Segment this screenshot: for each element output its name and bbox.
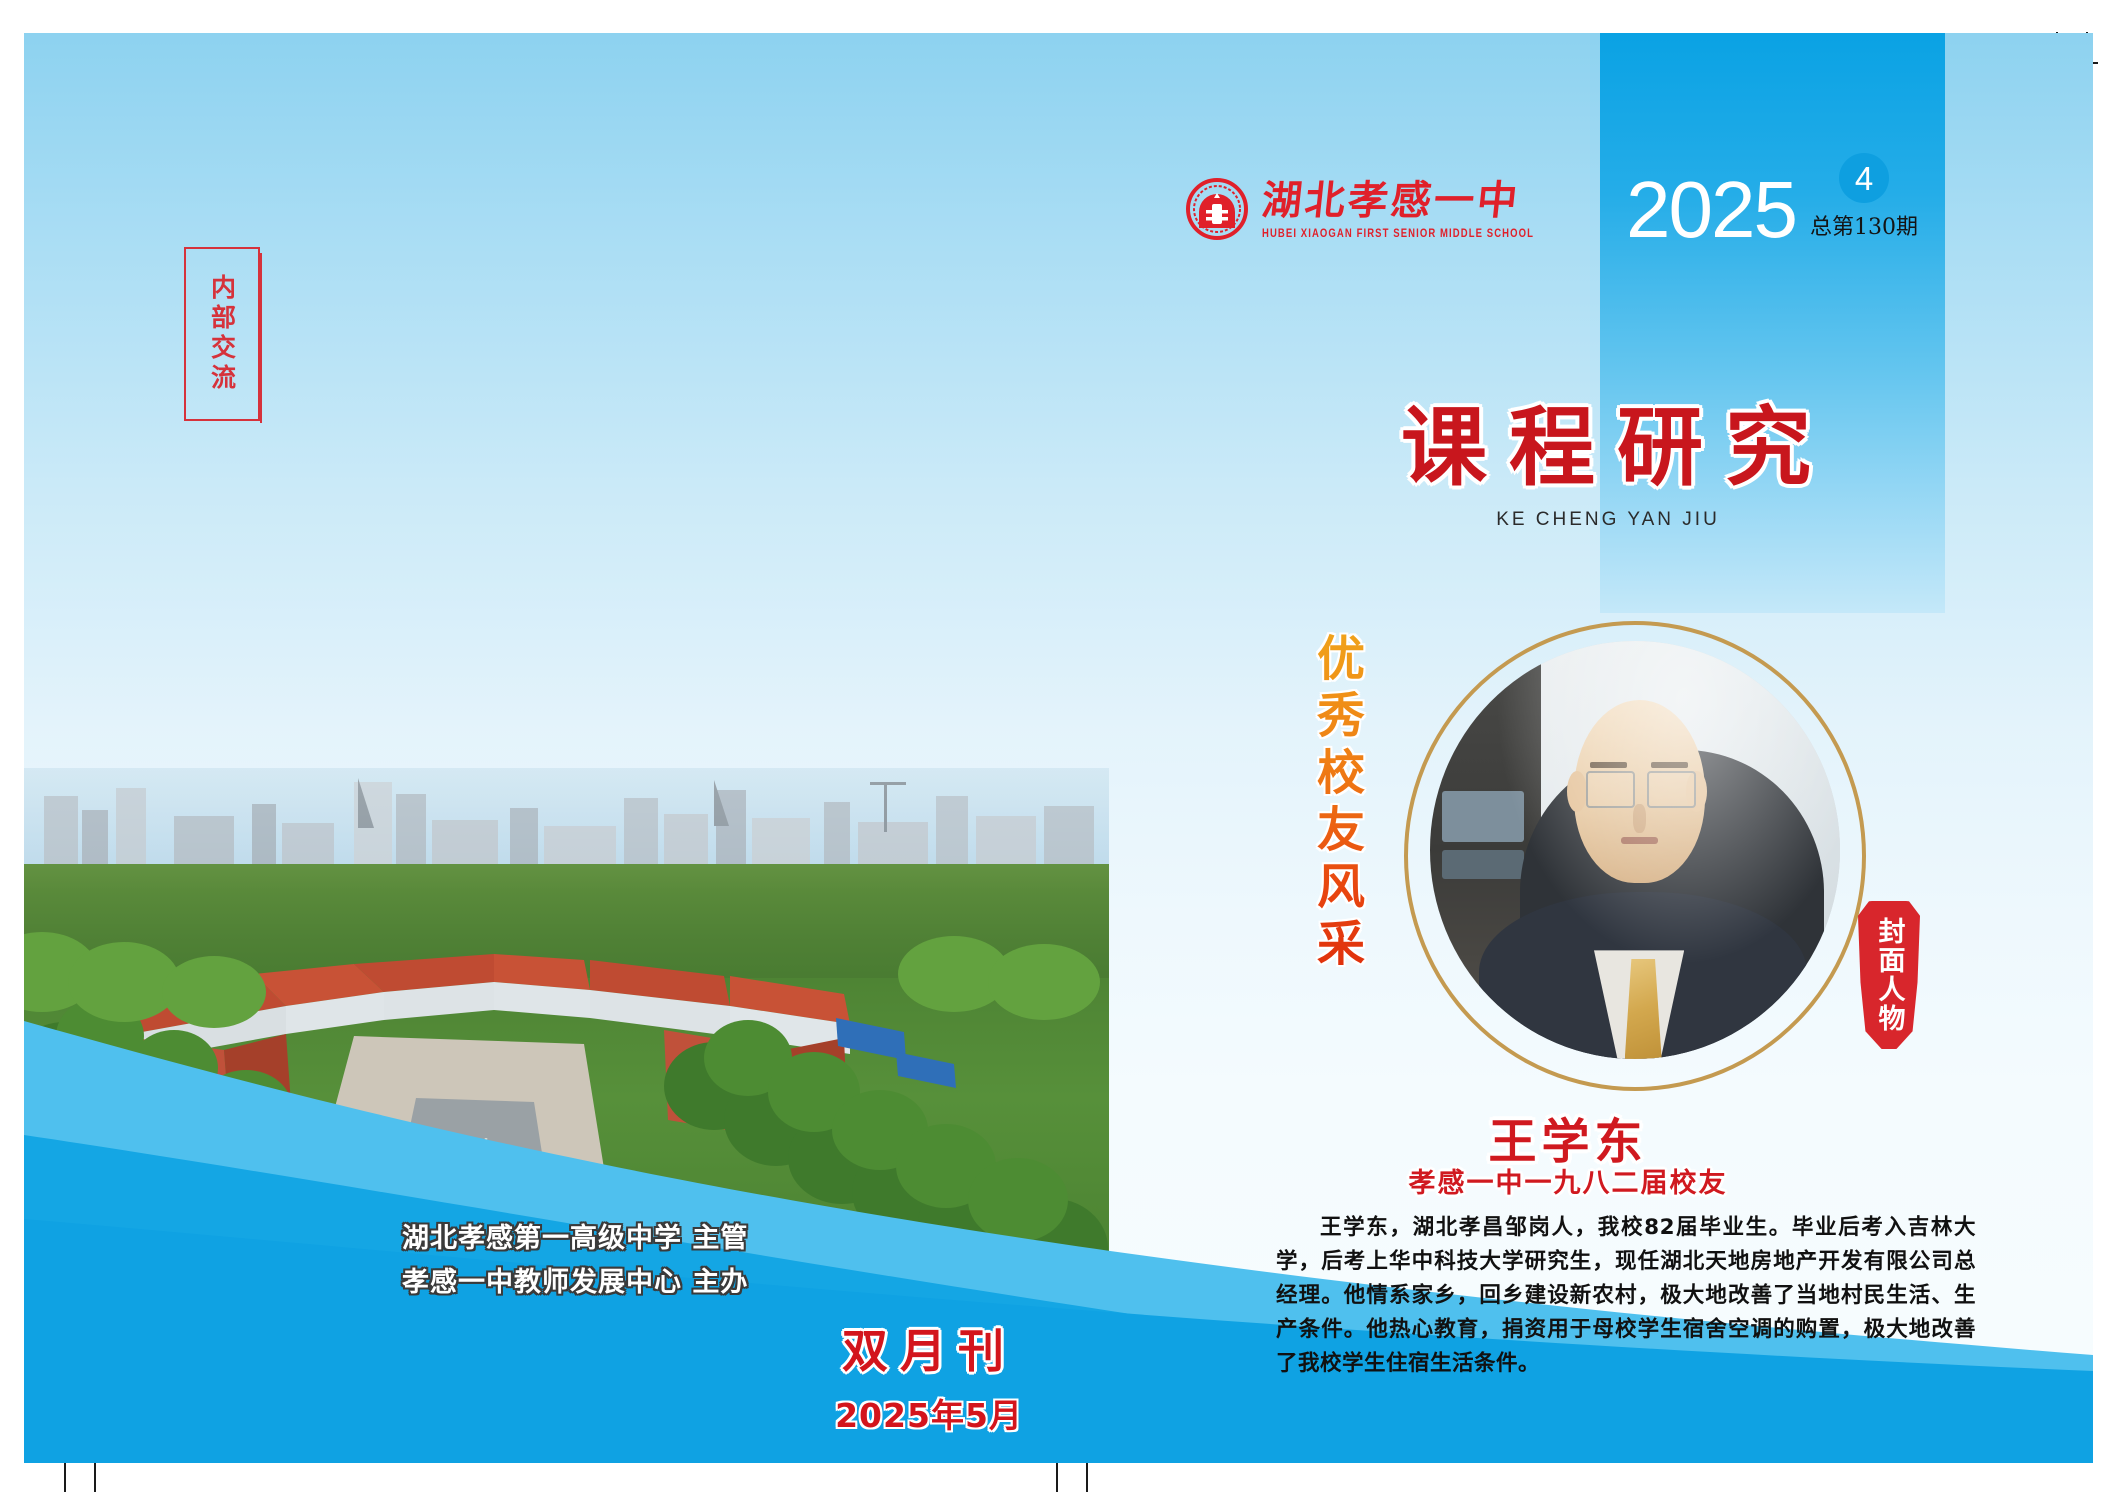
badge-shadow-line [260, 253, 262, 423]
cover-person-seal: 封面人物 [1858, 901, 1920, 1049]
internal-exchange-badge: 内部交流 [184, 247, 260, 421]
magazine-title: 课程研究 KE CHENG YAN JIU [1328, 403, 1888, 531]
school-name-en: HUBEI XIAOGAN FIRST SENIOR MIDDLE SCHOOL [1262, 227, 1534, 241]
alumni-feature-headline: 优秀校友风采 [1301, 633, 1371, 975]
magazine-title-cn: 课程研究 [1346, 403, 1888, 493]
portrait-light-glow [1430, 641, 1840, 1059]
magazine-title-pinyin: KE CHENG YAN JIU [1328, 509, 1888, 531]
publication-frequency: 双月刊 [794, 1315, 1064, 1381]
cover-person-seal-label: 封面人物 [1876, 917, 1903, 1033]
magazine-cover-page: 内部交流 湖北孝感一中 HUBEI XIAOGAN FIRST SENIOR M… [0, 0, 2126, 1512]
cover-person-bio: 王学东，湖北孝昌邹岗人，我校82届毕业生。毕业后考入吉林大学，后考上华中科技大学… [1276, 1211, 1976, 1381]
issue-number-badge: 4 [1839, 153, 1889, 203]
issue-year: 2025 [1626, 177, 1796, 243]
school-logo: 湖北孝感一中 HUBEI XIAOGAN FIRST SENIOR MIDDLE… [1186, 178, 1534, 240]
cover-person-portrait [1430, 641, 1840, 1059]
publisher-supervisor: 湖北孝感第一高级中学 主管 [402, 1217, 748, 1261]
issue-total-label: 总第130期 [1810, 209, 1918, 241]
periodicity-block: 双月刊 2025年5月 [794, 1315, 1064, 1437]
internal-exchange-label: 内部交流 [210, 274, 235, 394]
publisher-organizer: 孝感一中教师发展中心 主办 [402, 1261, 748, 1305]
publication-date: 2025年5月 [794, 1389, 1064, 1437]
logo-wordmark: 湖北孝感一中 HUBEI XIAOGAN FIRST SENIOR MIDDLE… [1262, 181, 1534, 238]
school-name-cn: 湖北孝感一中 [1260, 181, 1536, 221]
issue-right-group: 4 总第130期 [1810, 153, 1918, 243]
cover-sheet: 内部交流 湖北孝感一中 HUBEI XIAOGAN FIRST SENIOR M… [24, 33, 2093, 1463]
issue-info: 2025 4 总第130期 [1626, 153, 1918, 243]
publisher-block: 湖北孝感第一高级中学 主管 孝感一中教师发展中心 主办 [402, 1217, 748, 1305]
cover-person-subtitle: 孝感一中一九八二届校友 [1328, 1161, 1808, 1200]
school-seal-icon [1186, 178, 1248, 240]
